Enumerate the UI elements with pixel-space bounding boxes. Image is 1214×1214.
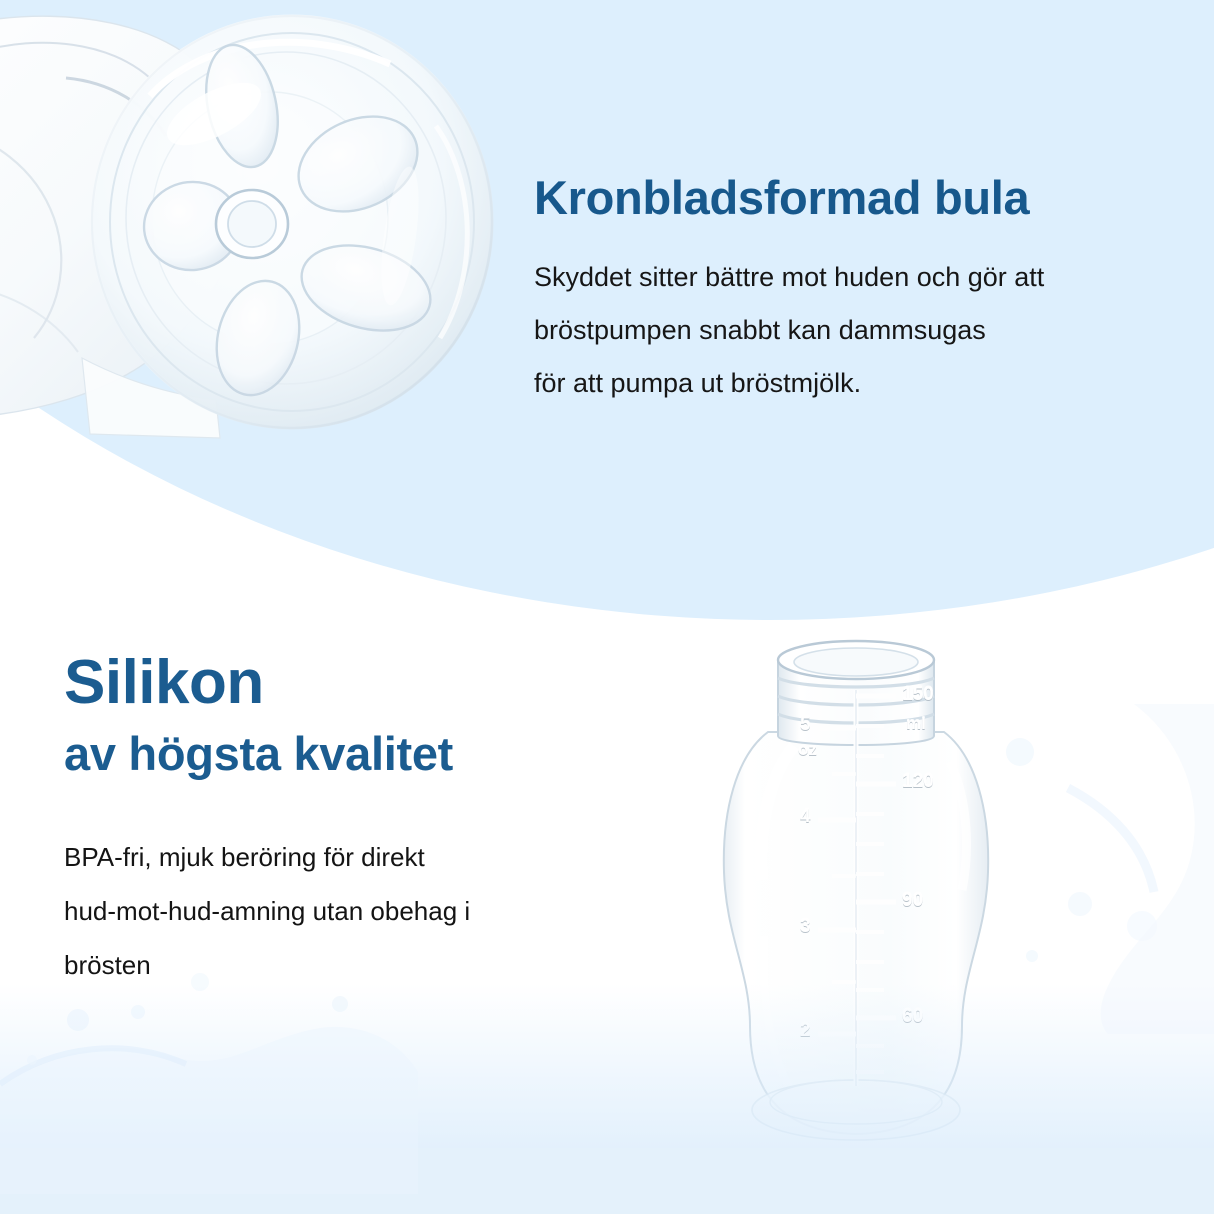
top-body-line: Skyddet sitter bättre mot huden och gör … [534,251,1174,304]
top-body: Skyddet sitter bättre mot huden och gör … [534,225,1174,410]
bottom-body-line: hud-mot-hud-amning utan obehag i [64,884,664,938]
bottom-text-block: Silikon av högsta kvalitet BPA-fri, mjuk… [64,650,664,992]
top-heading: Kronbladsformad bula [534,172,1174,225]
pump-shield-photo [0,0,530,506]
bottom-body-line: BPA-fri, mjuk beröring för direkt [64,830,664,884]
top-body-line: bröstpumpen snabbt kan dammsugas [534,304,1174,357]
top-body-line: för att pumpa ut bröstmjölk. [534,357,1174,410]
bottom-heading: Silikon [64,650,664,715]
top-text-block: Kronbladsformad bula Skyddet sitter bätt… [534,172,1174,410]
bottom-subheading: av högsta kvalitet [64,715,664,778]
bottom-body: BPA-fri, mjuk beröring för direkt hud-mo… [64,778,664,992]
product-infographic-page: Kronbladsformad bula Skyddet sitter bätt… [0,0,1214,1214]
bottom-color-band [0,1148,1214,1214]
